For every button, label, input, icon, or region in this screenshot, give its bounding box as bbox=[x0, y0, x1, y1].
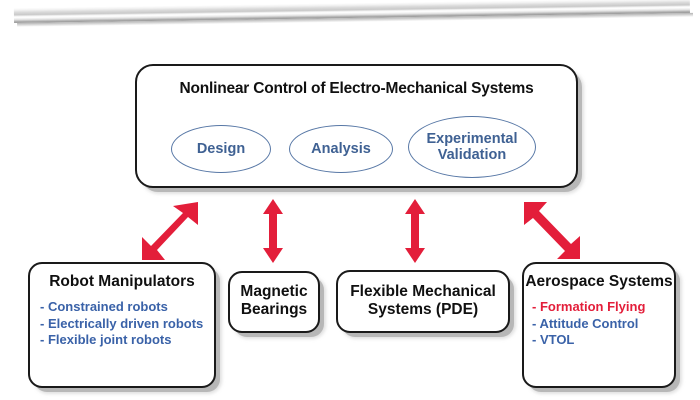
category-box-flexible-mechanical-systems: Flexible Mechanical Systems (PDE) bbox=[336, 270, 510, 333]
main-topic-box: Nonlinear Control of Electro-Mechanical … bbox=[135, 64, 578, 188]
arrow-vertical-right bbox=[404, 199, 426, 263]
list-item: - Constrained robots bbox=[40, 299, 214, 316]
ellipse-design: Design bbox=[171, 125, 271, 173]
ellipse-analysis-label: Analysis bbox=[311, 141, 371, 157]
list-item: - Electrically driven robots bbox=[40, 316, 214, 333]
arrow-diagonal-right bbox=[516, 198, 582, 264]
top-gradient-bar bbox=[14, 0, 690, 30]
category-box-robot-manipulators: Robot Manipulators - Constrained robots … bbox=[28, 262, 216, 388]
list-item: - Formation Flying bbox=[532, 299, 674, 316]
ellipse-design-label: Design bbox=[197, 141, 245, 157]
arrow-vertical-left bbox=[262, 199, 284, 263]
category-heading-flexible-mechanical-systems: Flexible Mechanical Systems (PDE) bbox=[338, 283, 508, 318]
list-item: - Flexible joint robots bbox=[40, 332, 214, 349]
page-title: Nonlinear Control of Electro-Mechanical … bbox=[137, 80, 576, 98]
category-heading-robot-manipulators: Robot Manipulators bbox=[30, 273, 214, 291]
category-box-magnetic-bearings: Magnetic Bearings bbox=[228, 271, 320, 333]
ellipse-experimental-validation-label: Experimental Validation bbox=[409, 131, 535, 163]
diagram-canvas: Nonlinear Control of Electro-Mechanical … bbox=[0, 0, 700, 400]
category-heading-aerospace-systems: Aerospace Systems bbox=[524, 273, 674, 291]
bullet-list-aerospace-systems: - Formation Flying - Attitude Control - … bbox=[524, 299, 674, 350]
ellipse-experimental-validation: Experimental Validation bbox=[408, 116, 536, 178]
arrow-diagonal-left bbox=[140, 198, 206, 264]
category-heading-magnetic-bearings: Magnetic Bearings bbox=[230, 283, 318, 318]
list-item: - Attitude Control bbox=[532, 316, 674, 333]
ellipse-analysis: Analysis bbox=[289, 125, 393, 173]
category-box-aerospace-systems: Aerospace Systems - Formation Flying - A… bbox=[522, 262, 676, 388]
list-item: - VTOL bbox=[532, 332, 674, 349]
bullet-list-robot-manipulators: - Constrained robots - Electrically driv… bbox=[30, 299, 214, 350]
